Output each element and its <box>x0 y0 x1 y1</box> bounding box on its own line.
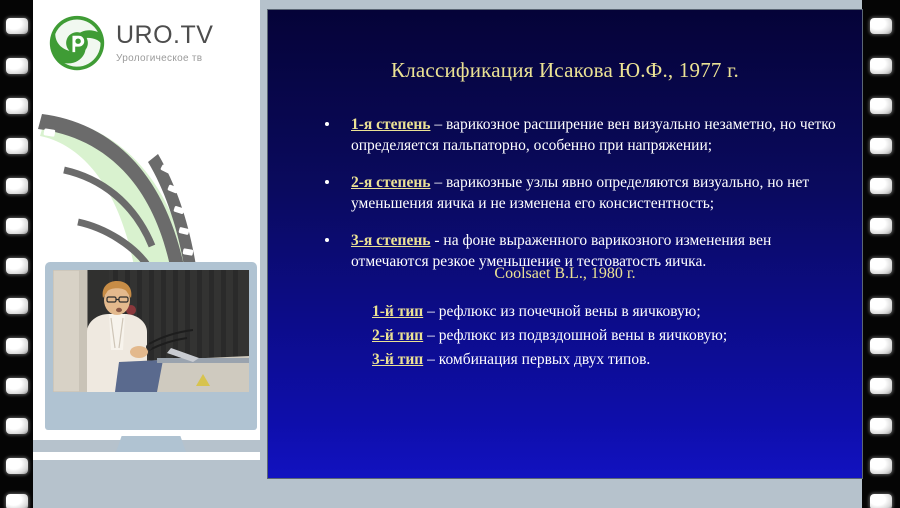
slide-title: Классификация Исакова Ю.Ф., 1977 г. <box>268 58 862 83</box>
slide-bullet-list: 1-я степень – варикозное расширение вен … <box>318 98 850 281</box>
list-item: 2-я степень – варикозные узлы явно опред… <box>318 172 850 215</box>
type-lead: 1-й тип <box>372 303 423 320</box>
presentation-slide: Классификация Исакова Ю.Ф., 1977 г. 1-я … <box>268 10 862 478</box>
list-item: 1-я степень – варикозное расширение вен … <box>318 114 850 157</box>
type-lead: 2-й тип <box>372 327 423 344</box>
list-item: 3-й тип – комбинация первых двух типов. <box>372 348 842 372</box>
brand-logo[interactable]: URO.TV Урологическое тв <box>48 14 213 72</box>
bullet-lead: 2-я степень <box>351 174 430 191</box>
slide-type-list: 1-й тип – рефлюкс из почечной вены в яич… <box>372 300 842 372</box>
desktop-monitor-frame <box>45 262 257 430</box>
type-text: – комбинация первых двух типов. <box>423 351 650 368</box>
brand-title: URO.TV <box>116 23 213 48</box>
type-text: – рефлюкс из подвздошной вены в яичковую… <box>423 327 727 344</box>
slide-source-citation: Coolsaet B.L., 1980 г. <box>268 265 862 283</box>
brand-subtitle: Урологическое тв <box>116 54 213 64</box>
monitor-stand <box>116 436 186 452</box>
video-player-stage: URO.TV Урологическое тв <box>0 0 900 508</box>
curved-film-reel-icon <box>38 96 238 261</box>
list-item: 2-й тип – рефлюкс из подвздошной вены в … <box>372 324 842 348</box>
type-text: – рефлюкс из почечной вены в яичковую; <box>423 303 700 320</box>
film-strip-border-right <box>862 0 900 508</box>
uro-tv-swirl-logo-icon <box>48 14 106 72</box>
speaker-video[interactable] <box>53 270 249 392</box>
list-item: 1-й тип – рефлюкс из почечной вены в яич… <box>372 300 842 324</box>
film-strip-border-left <box>0 0 33 508</box>
bullet-lead: 3-я степень <box>351 232 430 249</box>
monitor-base <box>33 452 260 460</box>
bullet-lead: 1-я степень <box>351 116 430 133</box>
type-lead: 3-й тип <box>372 351 423 368</box>
